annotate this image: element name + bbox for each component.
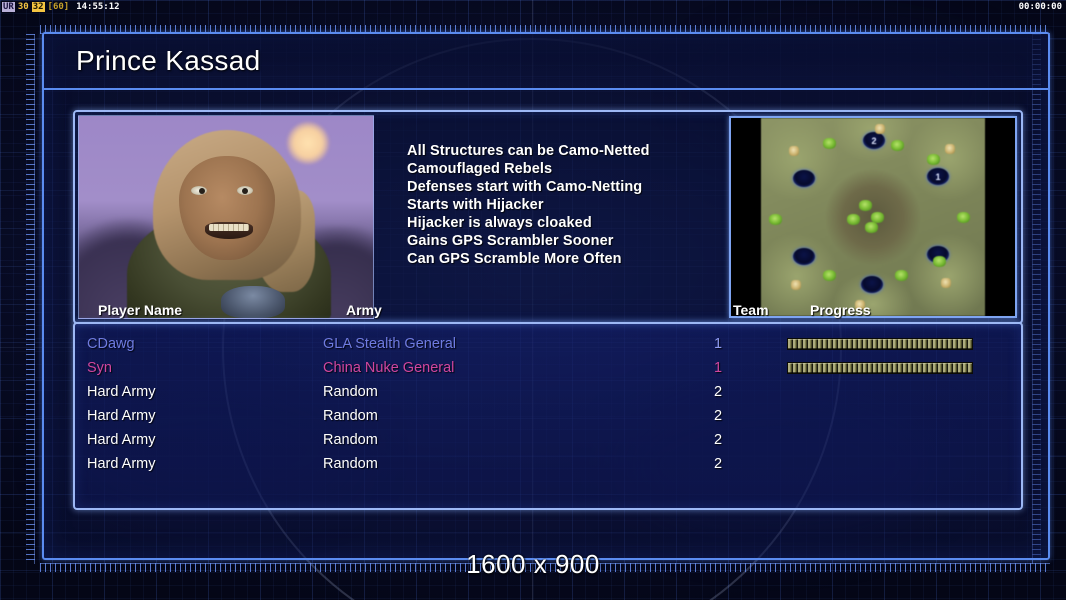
ability-item: Camouflaged Rebels bbox=[407, 160, 729, 178]
player-name: Hard Army bbox=[87, 456, 156, 472]
map-start-position: 1 bbox=[927, 168, 949, 185]
fps-value: 30 bbox=[18, 2, 29, 12]
ability-item: All Structures can be Camo-Netted bbox=[407, 142, 729, 160]
map-structure bbox=[941, 278, 951, 288]
map-resource bbox=[957, 212, 970, 223]
player-team: 1 bbox=[714, 360, 722, 376]
system-clock: 14:55:12 bbox=[76, 2, 119, 12]
table-row[interactable]: Hard Army Random 2 bbox=[75, 380, 1021, 404]
map-start-position bbox=[793, 248, 815, 265]
progress-bar-fill bbox=[787, 338, 973, 350]
game-screen: UR 30 32 [60] 14:55:12 00:00:00 Prince K… bbox=[0, 0, 1066, 600]
general-info-panel: All Structures can be Camo-Netted Camouf… bbox=[73, 110, 1023, 324]
ability-item: Starts with Hijacker bbox=[407, 196, 729, 214]
map-resource bbox=[933, 256, 946, 267]
portrait-teeth bbox=[209, 224, 249, 231]
player-army: GLA Stealth General bbox=[323, 336, 456, 352]
ability-item: Gains GPS Scrambler Sooner bbox=[407, 232, 729, 250]
table-row[interactable]: CDawg GLA Stealth General 1 bbox=[75, 332, 1021, 356]
player-team: 2 bbox=[714, 408, 722, 424]
portrait-pupil-left bbox=[199, 188, 205, 194]
player-name: CDawg bbox=[87, 336, 135, 352]
resolution-label: 1600 x 900 bbox=[0, 549, 1066, 580]
ability-item: Can GPS Scramble More Often bbox=[407, 250, 729, 268]
map-resource bbox=[891, 140, 904, 151]
map-structure bbox=[945, 144, 955, 154]
map-structure bbox=[789, 146, 799, 156]
column-header-player-name: Player Name bbox=[98, 302, 182, 318]
player-name: Hard Army bbox=[87, 432, 156, 448]
page-title: Prince Kassad bbox=[76, 45, 260, 77]
map-preview[interactable]: 2 1 bbox=[729, 116, 1017, 318]
map-resource bbox=[769, 214, 782, 225]
column-header-team: Team bbox=[733, 302, 769, 318]
progress-bar-fill bbox=[787, 362, 973, 374]
table-row[interactable]: Hard Army Random 2 bbox=[75, 404, 1021, 428]
sun-icon bbox=[287, 122, 329, 164]
map-start-position bbox=[861, 276, 883, 293]
map-structure bbox=[791, 280, 801, 290]
column-header-army: Army bbox=[346, 302, 382, 318]
map-resource bbox=[927, 154, 940, 165]
map-start-position: 2 bbox=[863, 132, 885, 149]
table-row[interactable]: Syn China Nuke General 1 bbox=[75, 356, 1021, 380]
window-titlebar: Prince Kassad bbox=[44, 34, 1048, 90]
player-army: Random bbox=[323, 432, 378, 448]
map-terrain: 2 1 bbox=[761, 118, 985, 316]
general-info-window: Prince Kassad All bbox=[42, 32, 1050, 560]
map-resource bbox=[865, 222, 878, 233]
table-row[interactable]: Hard Army Random 2 bbox=[75, 452, 1021, 476]
player-name: Syn bbox=[87, 360, 112, 376]
fps-counter: UR 30 32 [60] 14:55:12 bbox=[0, 2, 120, 12]
player-army: Random bbox=[323, 456, 378, 472]
progress-bar bbox=[787, 338, 973, 350]
fps-target: 32 bbox=[32, 2, 45, 12]
map-resource bbox=[823, 270, 836, 281]
map-resource bbox=[823, 138, 836, 149]
player-army: Random bbox=[323, 408, 378, 424]
ability-list: All Structures can be Camo-Netted Camouf… bbox=[377, 112, 729, 322]
map-resource bbox=[847, 214, 860, 225]
map-resource bbox=[859, 200, 872, 211]
fps-tag: UR bbox=[2, 2, 15, 12]
player-name: Hard Army bbox=[87, 384, 156, 400]
player-list-panel: CDawg GLA Stealth General 1 Syn China Nu… bbox=[73, 322, 1023, 510]
portrait-pupil-right bbox=[242, 188, 248, 194]
player-army: China Nuke General bbox=[323, 360, 454, 376]
general-portrait bbox=[78, 115, 374, 319]
player-team: 1 bbox=[714, 336, 722, 352]
ruler-left bbox=[26, 34, 35, 564]
player-team: 2 bbox=[714, 384, 722, 400]
player-team: 2 bbox=[714, 456, 722, 472]
ability-item: Defenses start with Camo-Netting bbox=[407, 178, 729, 196]
progress-bar bbox=[787, 362, 973, 374]
player-name: Hard Army bbox=[87, 408, 156, 424]
map-structure bbox=[875, 124, 885, 134]
player-army: Random bbox=[323, 384, 378, 400]
column-header-progress: Progress bbox=[810, 302, 871, 318]
ability-item: Hijacker is always cloaked bbox=[407, 214, 729, 232]
fps-cap: [60] bbox=[48, 2, 70, 12]
status-bar: UR 30 32 [60] 14:55:12 00:00:00 bbox=[0, 0, 1066, 14]
table-row[interactable]: Hard Army Random 2 bbox=[75, 428, 1021, 452]
game-timer: 00:00:00 bbox=[1019, 2, 1066, 12]
map-start-position bbox=[793, 170, 815, 187]
player-list-header: Player Name Army Team Progress bbox=[98, 302, 1048, 324]
player-team: 2 bbox=[714, 432, 722, 448]
map-resource bbox=[895, 270, 908, 281]
